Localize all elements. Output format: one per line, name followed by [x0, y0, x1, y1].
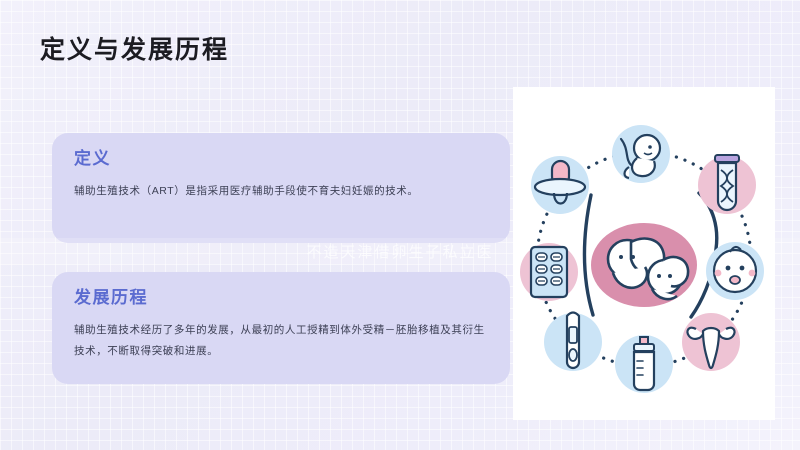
dna-test-tube-icon: [698, 155, 756, 214]
baby-face-icon: [706, 242, 764, 300]
card-body-text: 辅助生殖技术经历了多年的发展，从最初的人工授精到体外受精－胚胎移植及其衍生技术，…: [74, 320, 490, 361]
page-title: 定义与发展历程: [40, 30, 229, 66]
baby-bottle-icon: [615, 335, 673, 393]
card-heading: 定义: [74, 149, 490, 169]
pill-blister-pack-icon: [520, 243, 578, 301]
pacifier-icon: [531, 156, 589, 214]
slide-canvas: 定义与发展历程 定义 辅助生殖技术（ART）是指采用医疗辅助手段使不育夫妇妊娠的…: [0, 0, 800, 450]
fetus-icon: [612, 125, 670, 183]
card-body-text: 辅助生殖技术（ART）是指采用医疗辅助手段使不育夫妇妊娠的技术。: [74, 181, 490, 201]
card-heading: 发展历程: [74, 288, 490, 308]
twins-in-womb-icon: [591, 223, 697, 307]
illustration-panel: [513, 87, 775, 420]
pregnancy-test-icon: [544, 313, 602, 372]
uterus-icon: [682, 313, 740, 371]
fertility-cycle-illustration: [513, 87, 775, 420]
content-card-definition: 定义 辅助生殖技术（ART）是指采用医疗辅助手段使不育夫妇妊娠的技术。: [52, 133, 510, 243]
content-card-history: 发展历程 辅助生殖技术经历了多年的发展，从最初的人工授精到体外受精－胚胎移植及其…: [52, 272, 510, 384]
